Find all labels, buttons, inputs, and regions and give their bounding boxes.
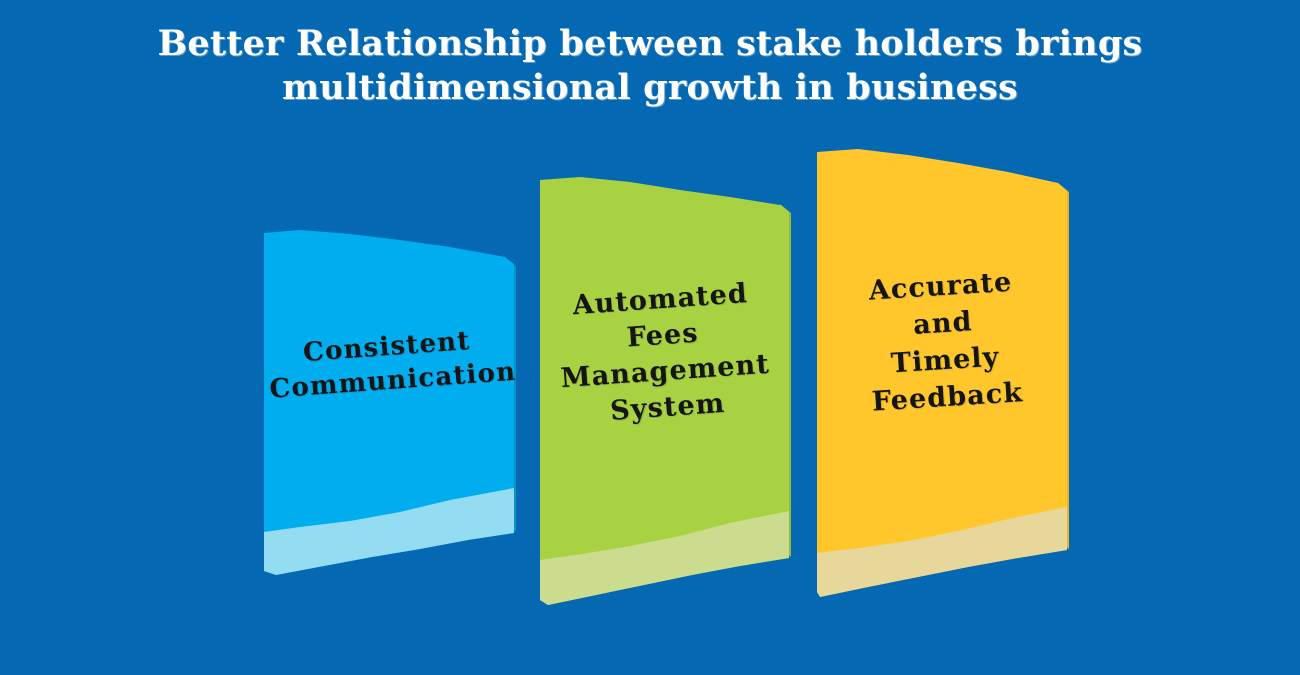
page-title: Better Relationship between stake holder… [0,22,1300,110]
page-title-line-2: multidimensional growth in business [0,66,1300,110]
panel-label-automated-fees-management-system: Automated Fees Management System [543,274,784,434]
infographic-canvas: Better Relationship between stake holder… [0,0,1300,675]
panel-label-accurate-and-timely-feedback: Accurate and Timely Feedback [824,261,1065,423]
page-title-line-1: Better Relationship between stake holder… [0,22,1300,66]
